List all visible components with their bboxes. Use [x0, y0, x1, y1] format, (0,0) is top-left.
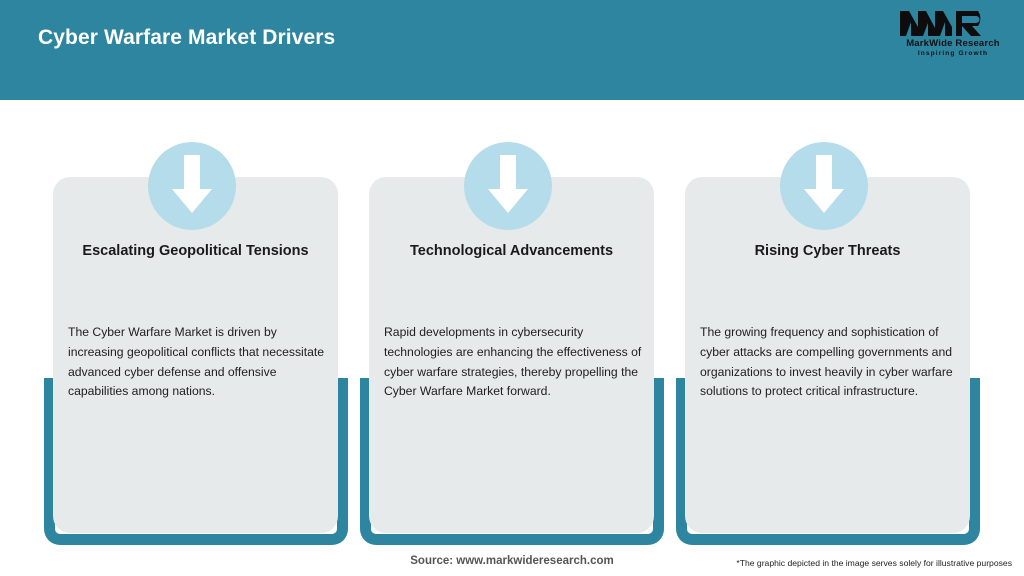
- page-header: Cyber Warfare Market Drivers MarkWide Re…: [0, 0, 1024, 100]
- card-title: Escalating Geopolitical Tensions: [68, 241, 323, 263]
- card-title: Technological Advancements: [384, 241, 639, 263]
- driver-card[interactable]: Rising Cyber Threats The growing frequen…: [676, 100, 992, 540]
- logo-tagline: Inspiring Growth: [898, 51, 1008, 58]
- disclaimer-note: *The graphic depicted in the image serve…: [736, 558, 1012, 568]
- card-description: The growing frequency and sophistication…: [700, 323, 962, 402]
- down-arrow-icon: [780, 142, 868, 230]
- card-title: Rising Cyber Threats: [700, 241, 955, 263]
- card-description: The Cyber Warfare Market is driven by in…: [68, 323, 330, 402]
- card-description: Rapid developments in cybersecurity tech…: [384, 323, 646, 402]
- drivers-card-row: Escalating Geopolitical Tensions The Cyb…: [0, 100, 1024, 540]
- brand-logo: MarkWide Research Inspiring Growth: [898, 8, 1008, 57]
- page-title: Cyber Warfare Market Drivers: [38, 26, 335, 50]
- down-arrow-icon: [148, 142, 236, 230]
- logo-company-name: MarkWide Research: [898, 39, 1008, 49]
- mwr-logo-icon: [898, 8, 1008, 38]
- down-arrow-icon: [464, 142, 552, 230]
- driver-card[interactable]: Technological Advancements Rapid develop…: [360, 100, 676, 540]
- driver-card[interactable]: Escalating Geopolitical Tensions The Cyb…: [44, 100, 360, 540]
